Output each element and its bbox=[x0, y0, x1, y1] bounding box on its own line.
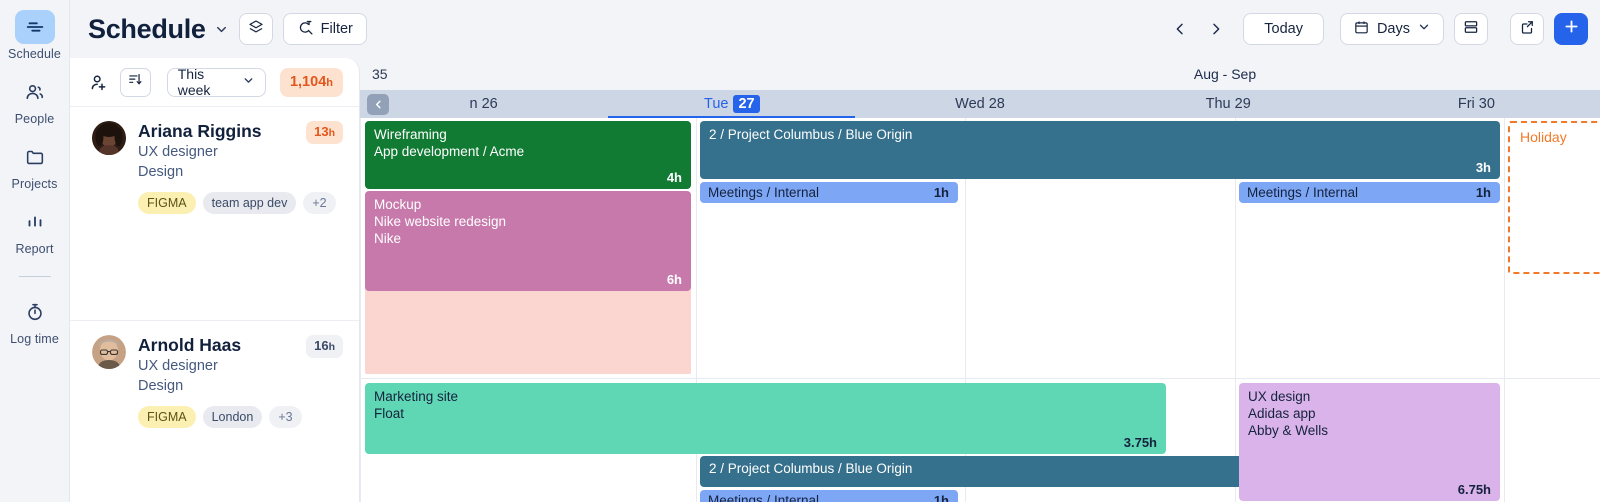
sidebar-item-people[interactable]: People bbox=[0, 75, 70, 126]
day-label: n 26 bbox=[469, 96, 497, 112]
meeting-title: Meetings / Internal bbox=[708, 185, 819, 200]
holiday-label: Holiday bbox=[1520, 129, 1567, 145]
tag-overflow[interactable]: +2 bbox=[303, 192, 335, 214]
calendar-day-header: n 26 Tue 27 Wed 28 Thu 29 Fri 30 bbox=[360, 90, 1600, 118]
sidebar-divider bbox=[19, 276, 51, 277]
month-range-label: Aug - Sep bbox=[360, 66, 1600, 82]
layers-icon bbox=[247, 18, 265, 41]
person-name: Ariana Riggins bbox=[138, 121, 262, 142]
person-hours-badge: 16h bbox=[306, 335, 343, 358]
calendar-grid: Wireframing App development / Acme 4h Mo… bbox=[360, 118, 1600, 502]
task-title: Mockup bbox=[374, 196, 682, 213]
tag-figma[interactable]: FIGMA bbox=[138, 192, 196, 214]
person-row[interactable]: Ariana Riggins UX designer Design 13h FI… bbox=[70, 106, 359, 306]
person-header: Ariana Riggins UX designer Design 13h bbox=[92, 121, 343, 182]
meeting-hours: 1h bbox=[934, 492, 949, 502]
task-block-wireframing[interactable]: Wireframing App development / Acme 4h bbox=[365, 121, 691, 189]
task-subtitle: App development / Acme bbox=[374, 143, 682, 160]
days-view-select[interactable]: Days bbox=[1340, 13, 1444, 45]
task-subtitle: Float bbox=[374, 405, 1157, 422]
day-header-tue[interactable]: Tue 27 bbox=[608, 90, 856, 118]
day-header-thu[interactable]: Thu 29 bbox=[1105, 90, 1353, 118]
sidebar-item-projects[interactable]: Projects bbox=[0, 140, 70, 191]
sidebar-label-report: Report bbox=[15, 242, 53, 256]
avatar bbox=[92, 121, 126, 155]
filter-label: Filter bbox=[321, 21, 353, 37]
folder-icon bbox=[15, 140, 55, 174]
holiday-block[interactable]: Holiday bbox=[1508, 121, 1600, 274]
sidebar-item-schedule[interactable]: Schedule bbox=[0, 10, 70, 61]
stopwatch-icon bbox=[15, 295, 55, 329]
share-button[interactable] bbox=[1510, 13, 1544, 45]
sidebar-nav: Schedule People Projects bbox=[0, 0, 70, 502]
sort-descending-icon bbox=[127, 71, 144, 93]
task-title: Wireframing bbox=[374, 126, 682, 143]
task-hours: 6h bbox=[667, 271, 682, 288]
person-name: Arnold Haas bbox=[138, 335, 241, 356]
person-role: UX designer bbox=[138, 142, 262, 162]
task-block-mockup[interactable]: Mockup Nike website redesign Nike 6h bbox=[365, 191, 691, 291]
task-block-marketing[interactable]: Marketing site Float 3.75h bbox=[365, 383, 1166, 454]
next-period-button[interactable] bbox=[1203, 14, 1229, 44]
plus-icon bbox=[1562, 17, 1581, 41]
person-department: Design bbox=[138, 376, 241, 396]
person-hours-unit: h bbox=[329, 127, 335, 139]
grid-line bbox=[1504, 118, 1505, 502]
person-tags: FIGMA London +3 bbox=[138, 406, 343, 428]
task-client: Nike bbox=[374, 230, 682, 247]
calendar: 35 Aug - Sep n 26 Tue 27 Wed 28 Thu 29 F… bbox=[360, 58, 1600, 502]
date-range-select[interactable]: This week bbox=[167, 68, 266, 97]
meeting-block-thu-top[interactable]: Meetings / Internal 1h bbox=[1239, 182, 1500, 203]
sort-button[interactable] bbox=[120, 68, 150, 97]
meeting-block-tue-top[interactable]: Meetings / Internal 1h bbox=[700, 182, 958, 203]
person-info: Arnold Haas UX designer Design bbox=[138, 335, 241, 396]
task-title: Marketing site bbox=[374, 388, 1157, 405]
person-hours-value: 16 bbox=[314, 338, 328, 353]
toolbar-right-group: Today Days bbox=[1167, 13, 1588, 45]
schedule-icon bbox=[15, 10, 55, 44]
task-hours: 3.75h bbox=[1124, 434, 1157, 451]
people-panel-toolbar: This week 1,104h bbox=[70, 58, 359, 106]
calendar-month-bar: 35 Aug - Sep bbox=[360, 58, 1600, 90]
day-label: Wed 28 bbox=[955, 96, 1005, 112]
calendar-icon bbox=[1353, 19, 1370, 40]
task-block-ux-design[interactable]: UX design Adidas app Abby & Wells 6.75h bbox=[1239, 383, 1500, 501]
grid-line bbox=[360, 118, 361, 502]
day-header-mon[interactable]: n 26 bbox=[360, 90, 608, 118]
person-info: Ariana Riggins UX designer Design bbox=[138, 121, 262, 182]
person-hours-unit: h bbox=[329, 341, 335, 353]
tag-figma[interactable]: FIGMA bbox=[138, 406, 196, 428]
meeting-block-tue-bottom[interactable]: Meetings / Internal 1h bbox=[700, 490, 958, 502]
sidebar-label-people: People bbox=[15, 112, 55, 126]
sidebar-item-report[interactable]: Report bbox=[0, 205, 70, 256]
person-tags: FIGMA team app dev +2 bbox=[138, 192, 343, 214]
week-number: 35 bbox=[372, 66, 388, 82]
day-label: Thu 29 bbox=[1206, 96, 1251, 112]
sidebar-label-schedule: Schedule bbox=[8, 47, 61, 61]
chevron-down-icon bbox=[1417, 20, 1431, 38]
sidebar-label-projects: Projects bbox=[12, 177, 58, 191]
chevron-down-icon[interactable] bbox=[214, 22, 229, 37]
people-panel: This week 1,104h bbox=[70, 58, 360, 502]
schedule-app: Schedule People Projects bbox=[0, 0, 1600, 502]
day-label: Tue bbox=[704, 96, 728, 112]
today-button[interactable]: Today bbox=[1243, 13, 1324, 45]
task-title: UX design bbox=[1248, 388, 1491, 405]
date-range-label: This week bbox=[178, 66, 236, 98]
person-header: Arnold Haas UX designer Design 16h bbox=[92, 335, 343, 396]
total-hours-badge: 1,104h bbox=[280, 68, 343, 97]
meeting-title: Meetings / Internal bbox=[708, 493, 819, 502]
today-label: Today bbox=[1264, 21, 1303, 37]
person-role: UX designer bbox=[138, 356, 241, 376]
person-row[interactable]: Arnold Haas UX designer Design 16h FIGMA… bbox=[70, 320, 359, 502]
people-icon bbox=[15, 75, 55, 109]
day-label: Fri 30 bbox=[1458, 96, 1495, 112]
person-hours-value: 13 bbox=[314, 124, 328, 139]
task-hours: 3h bbox=[1476, 159, 1491, 176]
add-person-icon[interactable] bbox=[86, 69, 110, 95]
tag-overflow[interactable]: +3 bbox=[269, 406, 301, 428]
add-button[interactable] bbox=[1554, 13, 1588, 45]
tag-team[interactable]: team app dev bbox=[203, 192, 297, 214]
days-label: Days bbox=[1377, 21, 1410, 37]
sidebar-item-log-time[interactable]: Log time bbox=[0, 295, 70, 346]
total-hours-value: 1,104 bbox=[290, 68, 326, 97]
total-hours-unit: h bbox=[326, 69, 333, 98]
meeting-title: Meetings / Internal bbox=[1247, 185, 1358, 200]
top-toolbar: Schedule Filter bbox=[70, 0, 1600, 58]
person-department: Design bbox=[138, 162, 262, 182]
filter-search-icon bbox=[297, 19, 314, 40]
prev-period-button[interactable] bbox=[1167, 14, 1193, 44]
sidebar-label-log-time: Log time bbox=[10, 332, 59, 346]
split-view-button[interactable] bbox=[1454, 13, 1488, 45]
chevron-down-icon bbox=[242, 74, 255, 90]
person-hours-badge: 13h bbox=[306, 121, 343, 144]
bar-chart-icon bbox=[15, 205, 55, 239]
scroll-left-button[interactable] bbox=[367, 94, 389, 115]
tag-location[interactable]: London bbox=[203, 406, 263, 428]
task-block-columbus-top[interactable]: 2 / Project Columbus / Blue Origin 3h bbox=[700, 121, 1500, 179]
meeting-hours: 1h bbox=[1476, 184, 1491, 201]
external-link-icon bbox=[1518, 18, 1536, 41]
task-subtitle: Nike website redesign bbox=[374, 213, 682, 230]
task-subtitle: Adidas app bbox=[1248, 405, 1491, 422]
page-title: Schedule bbox=[88, 14, 206, 45]
split-view-icon bbox=[1462, 18, 1480, 41]
day-header-wed[interactable]: Wed 28 bbox=[856, 90, 1104, 118]
task-title: 2 / Project Columbus / Blue Origin bbox=[709, 126, 1491, 143]
row-divider bbox=[360, 378, 1600, 379]
meeting-hours: 1h bbox=[934, 184, 949, 201]
task-title: 2 / Project Columbus / Blue Origin bbox=[709, 461, 912, 476]
main-area: Schedule Filter bbox=[70, 0, 1600, 502]
avatar bbox=[92, 335, 126, 369]
task-hours: 4h bbox=[667, 169, 682, 186]
day-number-today: 27 bbox=[733, 95, 759, 113]
task-client: Abby & Wells bbox=[1248, 422, 1491, 439]
task-hours: 6.75h bbox=[1458, 481, 1491, 498]
filter-button[interactable]: Filter bbox=[283, 13, 367, 45]
day-header-fri[interactable]: Fri 30 bbox=[1353, 90, 1600, 118]
layers-button[interactable] bbox=[239, 13, 273, 45]
